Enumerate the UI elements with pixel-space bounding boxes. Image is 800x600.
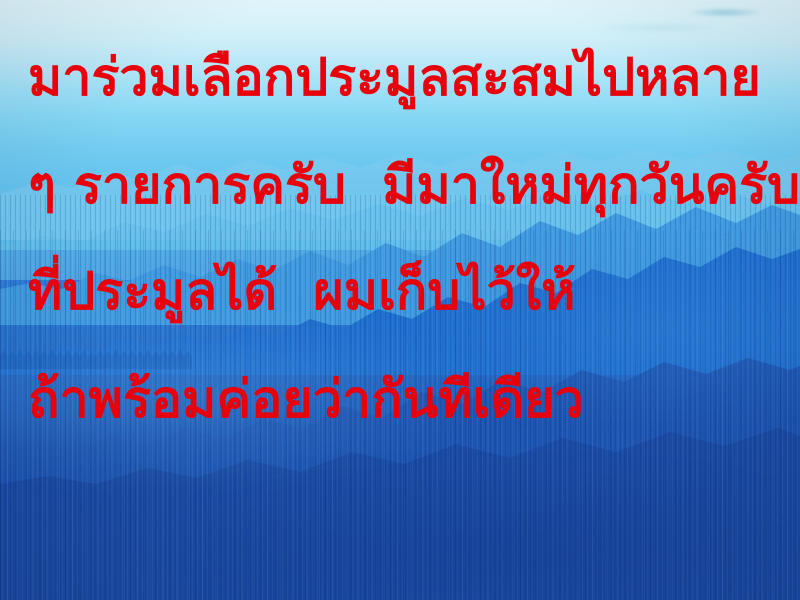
caption-line-2: ๆ รายการครับ มีมาใหม่ทุกวันครับ [28, 160, 800, 212]
caption-line-3: ที่ประมูลได้ ผมเก็บไว้ให้ [28, 266, 575, 318]
caption-overlay: มาร่วมเลือกประมูลสะสมไปหลาย ๆ รายการครับ… [0, 0, 800, 600]
caption-line-4: ถ้าพร้อมค่อยว่ากันทีเดียว [28, 374, 584, 426]
caption-line-1: มาร่วมเลือกประมูลสะสมไปหลาย [28, 52, 761, 104]
image-canvas: มาร่วมเลือกประมูลสะสมไปหลาย ๆ รายการครับ… [0, 0, 800, 600]
